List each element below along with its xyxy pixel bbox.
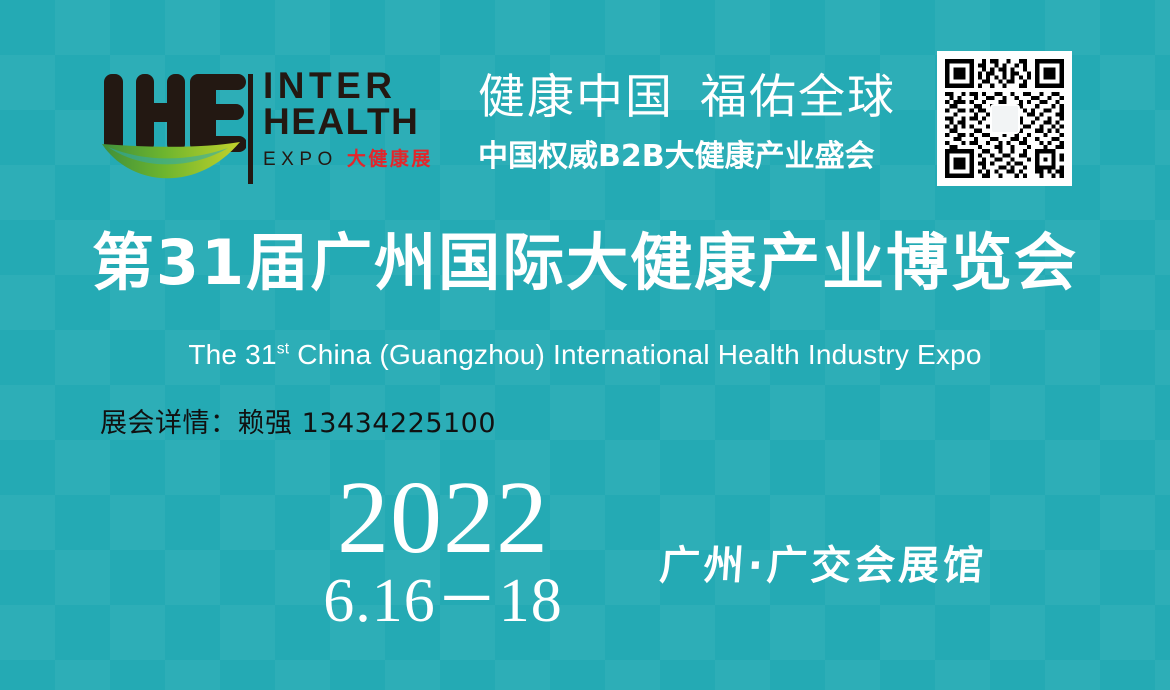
logo-line-inter: INTER [263,68,453,104]
logo-expo-row: EXPO 大健康展 [263,144,453,171]
contact-info: 展会详情：赖强 13434225100 [100,401,496,440]
logo-line-health: HEALTH [263,104,453,140]
expo-poster: INTER HEALTH EXPO 大健康展 健康中国福佑全球 中国权威B2B大… [0,0,1170,690]
subtitle-suffix: China (Guangzhou) International Health I… [289,339,981,370]
ihe-logo: INTER HEALTH EXPO 大健康展 [100,60,445,200]
page-title: 第31届广州国际大健康产业博览会 [0,232,1170,294]
event-year: 2022 [318,470,568,566]
qr-code[interactable] [937,51,1072,186]
subtitle-ordinal: st [277,341,290,358]
event-day-range: 6.16－18 [318,570,568,632]
page-subtitle: The 31st China (Guangzhou) International… [0,341,1170,369]
slogan-part-2: 福佑全球 [700,70,896,125]
subtitle-prefix: The 31 [188,339,276,370]
logo-expo-label: EXPO [263,149,338,171]
slogan-block: 健康中国福佑全球 中国权威B2B大健康产业盛会 [478,72,928,175]
qr-center-avatar-icon [990,104,1020,134]
slogan-main-line: 健康中国福佑全球 [478,72,928,125]
logo-divider [248,74,253,184]
event-venue: 广州·广交会展馆 [658,533,989,591]
slogan-part-1: 健康中国 [478,70,674,125]
slogan-sub-line: 中国权威B2B大健康产业盛会 [478,131,928,175]
event-date: 2022 6.16－18 [318,470,568,632]
logo-wordmark: INTER HEALTH EXPO 大健康展 [263,68,453,171]
logo-expo-cn-label: 大健康展 [347,144,433,171]
ihe-monogram-icon [100,70,246,190]
